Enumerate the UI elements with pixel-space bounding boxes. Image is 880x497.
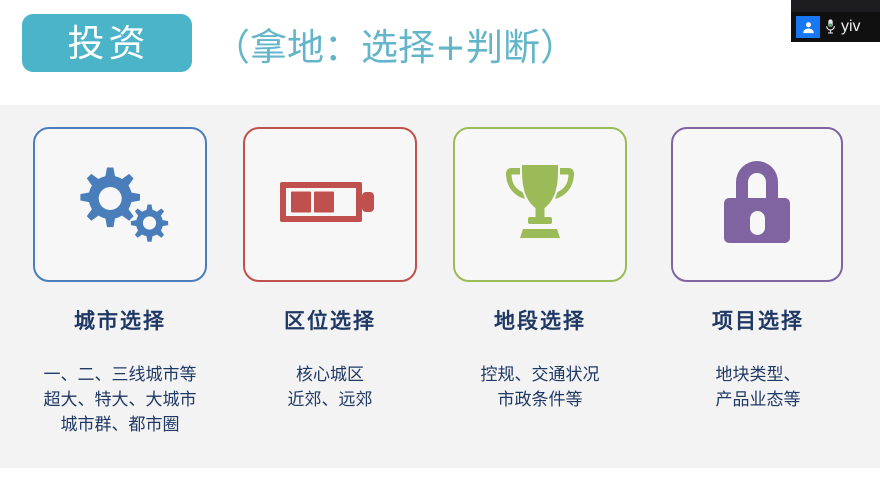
card-description-line: 近郊、远郊 bbox=[225, 388, 435, 413]
card-icon-frame bbox=[33, 127, 207, 282]
video-participant-overlay[interactable]: yiv bbox=[791, 0, 880, 42]
card-description-line: 城市群、都市圈 bbox=[15, 413, 225, 438]
card-description-line: 市政条件等 bbox=[435, 388, 645, 413]
card-description: 控规、交通状况 市政条件等 bbox=[435, 363, 645, 413]
card-description: 一、二、三线城市等 超大、特大、大城市 城市群、都市圈 bbox=[15, 363, 225, 438]
battery-icon bbox=[278, 174, 382, 235]
card-grid: 城市选择 一、二、三线城市等 超大、特大、大城市 城市群、都市圈 bbox=[0, 105, 880, 468]
card-description-line: 核心城区 bbox=[225, 363, 435, 388]
card-icon-frame bbox=[671, 127, 843, 282]
card-location-selection[interactable]: 区位选择 核心城区 近郊、远郊 bbox=[225, 105, 435, 468]
card-description-line: 控规、交通状况 bbox=[435, 363, 645, 388]
card-icon-frame bbox=[243, 127, 417, 282]
card-plot-selection[interactable]: 地段选择 控规、交通状况 市政条件等 bbox=[435, 105, 645, 468]
card-title: 城市选择 bbox=[15, 305, 225, 335]
lock-icon bbox=[719, 158, 795, 251]
person-icon bbox=[796, 16, 820, 38]
content-panel: 城市选择 一、二、三线城市等 超大、特大、大城市 城市群、都市圈 bbox=[0, 105, 880, 468]
slide-header: 投资 （拿地：选择+判断） bbox=[0, 0, 880, 105]
card-description: 核心城区 近郊、远郊 bbox=[225, 363, 435, 413]
participant-name: yiv bbox=[841, 16, 861, 38]
card-icon-frame bbox=[453, 127, 627, 282]
card-title: 地段选择 bbox=[435, 305, 645, 335]
card-description-line: 超大、特大、大城市 bbox=[15, 388, 225, 413]
card-title: 区位选择 bbox=[225, 305, 435, 335]
card-description: 地块类型、 产品业态等 bbox=[653, 363, 863, 413]
card-description-line: 地块类型、 bbox=[653, 363, 863, 388]
trophy-icon bbox=[500, 159, 580, 250]
card-project-selection[interactable]: 项目选择 地块类型、 产品业态等 bbox=[653, 105, 863, 468]
card-title: 项目选择 bbox=[653, 305, 863, 335]
slide-root: 投资 （拿地：选择+判断） yiv bbox=[0, 0, 880, 497]
title-badge-label: 投资 bbox=[65, 25, 150, 62]
slide-subtitle: （拿地：选择+判断） bbox=[213, 15, 577, 73]
title-badge: 投资 bbox=[22, 14, 192, 72]
card-description-line: 产品业态等 bbox=[653, 388, 863, 413]
card-description-line: 一、二、三线城市等 bbox=[15, 363, 225, 388]
gears-icon bbox=[66, 161, 174, 248]
participant-name-strip: yiv bbox=[791, 12, 880, 42]
card-city-selection[interactable]: 城市选择 一、二、三线城市等 超大、特大、大城市 城市群、都市圈 bbox=[15, 105, 225, 468]
microphone-icon[interactable] bbox=[820, 16, 840, 38]
